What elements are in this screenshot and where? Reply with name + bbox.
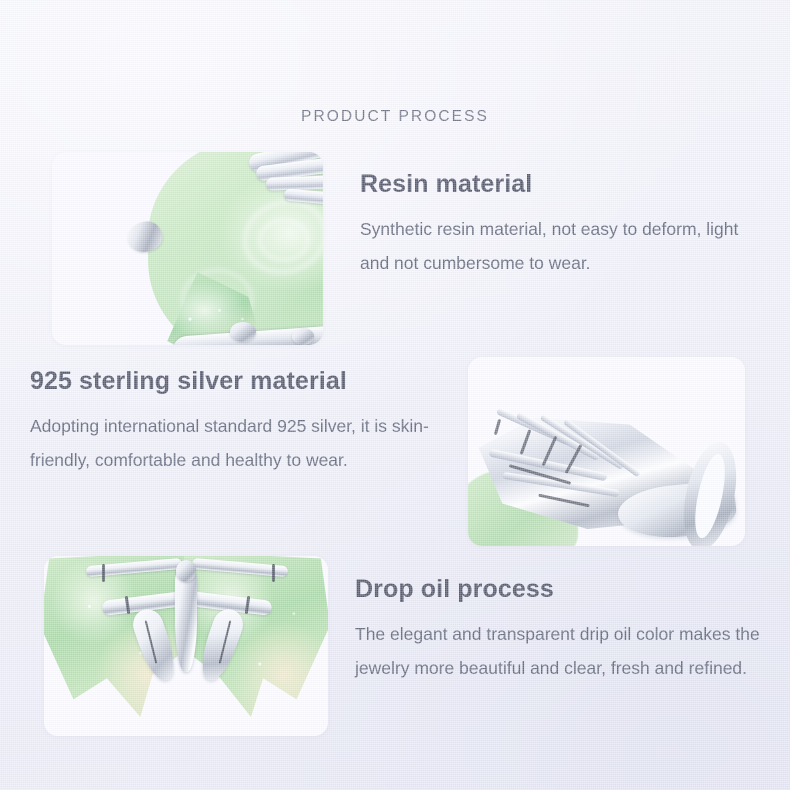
- resin-material-photo: [52, 152, 323, 345]
- drop-oil-body: The elegant and transparent drip oil col…: [355, 618, 765, 685]
- drop-oil-text-block: Drop oil process The elegant and transpa…: [355, 575, 765, 685]
- butterfly-right-wing: [178, 556, 328, 724]
- silver-side-hook: [675, 437, 745, 546]
- resin-material-photo-card: [52, 152, 323, 345]
- silver-bead: [230, 322, 256, 342]
- sterling-silver-photo-card: [468, 357, 745, 546]
- butterfly-dark-accent: [102, 564, 105, 582]
- sterling-silver-body: Adopting international standard 925 silv…: [30, 410, 430, 477]
- product-process-page: PRODUCT PROCESS Resin material Synthetic…: [0, 0, 790, 790]
- resin-material-text-block: Resin material Synthetic resin material,…: [360, 170, 764, 280]
- drop-oil-photo-card: [44, 556, 328, 736]
- resin-swirl-highlight: [258, 218, 310, 262]
- butterfly-left-wing: [44, 556, 192, 724]
- resin-material-body: Synthetic resin material, not easy to de…: [360, 213, 764, 280]
- drop-oil-heading: Drop oil process: [355, 575, 765, 604]
- sterling-silver-heading: 925 sterling silver material: [30, 367, 430, 396]
- drop-oil-photo: [44, 556, 328, 736]
- silver-leaf-crease: [494, 419, 501, 435]
- silver-bead: [292, 328, 314, 345]
- butterfly-head: [176, 560, 196, 582]
- butterfly-dark-accent: [272, 564, 275, 582]
- sterling-silver-photo: [468, 357, 745, 546]
- resin-material-heading: Resin material: [360, 170, 764, 199]
- page-title: PRODUCT PROCESS: [0, 108, 790, 126]
- sterling-silver-text-block: 925 sterling silver material Adopting in…: [30, 367, 430, 477]
